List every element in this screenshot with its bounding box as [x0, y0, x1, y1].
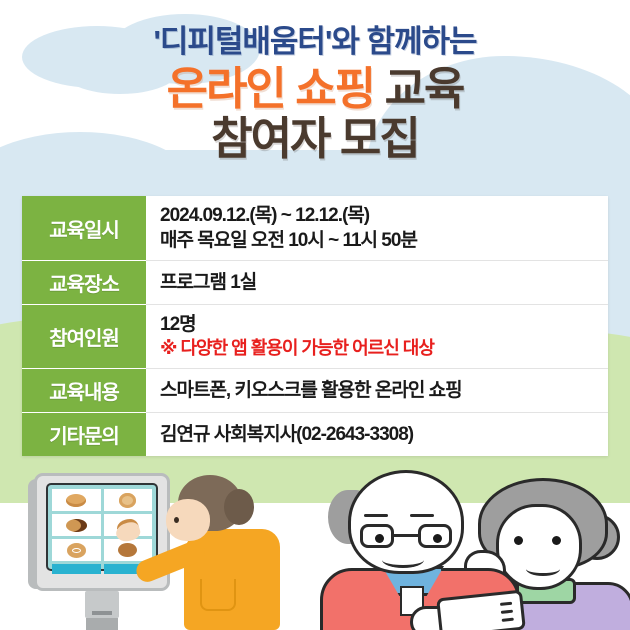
- glasses-lens-right: [418, 524, 452, 548]
- headline-line-2-brown: 교육: [385, 63, 464, 114]
- kiosk-item-bagel: [52, 539, 101, 561]
- headline-line-3: 참여자 모집: [0, 114, 630, 164]
- woman-eye: [174, 517, 179, 523]
- poster-headline: '디피털배움터'와 함께하는 온라인 쇼핑 교육 참여자 모집: [0, 0, 630, 164]
- elderly-woman-illustration: [150, 475, 290, 630]
- kiosk-item-round-bread: [104, 539, 153, 561]
- table-row: 교육장소 프로그램 1실: [22, 261, 608, 305]
- value-line: 매주 목요일 오전 10시 ~ 11시 50분: [160, 228, 608, 253]
- headline-line-2-orange: 온라인 쇼핑: [167, 63, 375, 114]
- couple-man: [330, 468, 510, 630]
- couple-man-brow-left: [364, 514, 388, 517]
- couple-man-eye-right: [433, 534, 442, 543]
- kiosk-button-left: [52, 564, 101, 574]
- glasses-lens-left: [360, 524, 394, 548]
- phone-screen-line: [501, 610, 513, 614]
- couple-man-brow-right: [410, 514, 434, 517]
- row-value-education-place: 프로그램 1실: [146, 261, 608, 305]
- participants-note: ※ 다양한 앱 활용이 가능한 어르신 대상: [160, 337, 608, 361]
- kiosk-stand: [86, 618, 118, 630]
- elderly-couple-illustration: [320, 460, 630, 630]
- value-line: 12명: [160, 312, 608, 337]
- phone-screen-line: [500, 602, 512, 606]
- table-row: 교육일시 2024.09.12.(목) ~ 12.12.(목) 매주 목요일 오…: [22, 196, 608, 261]
- couple-man-eye-left: [375, 534, 384, 543]
- row-value-education-date: 2024.09.12.(목) ~ 12.12.(목) 매주 목요일 오전 10시…: [146, 196, 608, 261]
- headline-line-1: '디피털배움터'와 함께하는: [0, 24, 630, 60]
- headline-line-2: 온라인 쇼핑 교육: [0, 64, 630, 114]
- value-line: 2024.09.12.(목) ~ 12.12.(목): [160, 203, 608, 228]
- table-row: 참여인원 12명 ※ 다양한 앱 활용이 가능한 어르신 대상: [22, 305, 608, 369]
- kiosk-card-slot: [92, 611, 112, 615]
- woman-hair-bun: [224, 489, 254, 525]
- kiosk-item-chocolate-bread: [52, 514, 101, 536]
- value-line: 스마트폰, 키오스크를 활용한 온라인 쇼핑: [160, 378, 608, 403]
- value-line: 김연규 사회복지사(02-2643-3308): [160, 422, 608, 447]
- glasses-bridge: [394, 534, 418, 537]
- couple-woman-eye-right: [552, 536, 561, 545]
- kiosk-item-bread-bun: [52, 489, 101, 511]
- woman-face: [166, 499, 210, 541]
- value-line: 프로그램 1실: [160, 270, 608, 295]
- phone-screen-line: [502, 618, 514, 622]
- kiosk-item-cinnamon-roll: [104, 489, 153, 511]
- info-table: 교육일시 2024.09.12.(목) ~ 12.12.(목) 매주 목요일 오…: [22, 196, 608, 456]
- woman-coat-pocket: [200, 579, 236, 611]
- row-value-participants: 12명 ※ 다양한 앱 활용이 가능한 어르신 대상: [146, 305, 608, 369]
- kiosk-screen: [46, 483, 158, 571]
- poster-root: '디피털배움터'와 함께하는 온라인 쇼핑 교육 참여자 모집 교육일시 202…: [0, 0, 630, 630]
- table-row: 기타문의 김연규 사회복지사(02-2643-3308): [22, 412, 608, 456]
- couple-man-smile: [382, 552, 424, 568]
- illustration-area: [0, 455, 630, 630]
- row-label-inquiry: 기타문의: [22, 412, 146, 456]
- glasses-icon: [360, 524, 452, 548]
- table-row: 교육내용 스마트폰, 키오스크를 활용한 온라인 쇼핑: [22, 368, 608, 412]
- couple-woman-smile: [526, 562, 560, 576]
- row-label-education-date: 교육일시: [22, 196, 146, 261]
- row-value-inquiry: 김연규 사회복지사(02-2643-3308): [146, 412, 608, 456]
- row-label-participants: 참여인원: [22, 305, 146, 369]
- row-label-education-content: 교육내용: [22, 368, 146, 412]
- couple-woman-eye-left: [514, 536, 523, 545]
- row-label-education-place: 교육장소: [22, 261, 146, 305]
- row-value-education-content: 스마트폰, 키오스크를 활용한 온라인 쇼핑: [146, 368, 608, 412]
